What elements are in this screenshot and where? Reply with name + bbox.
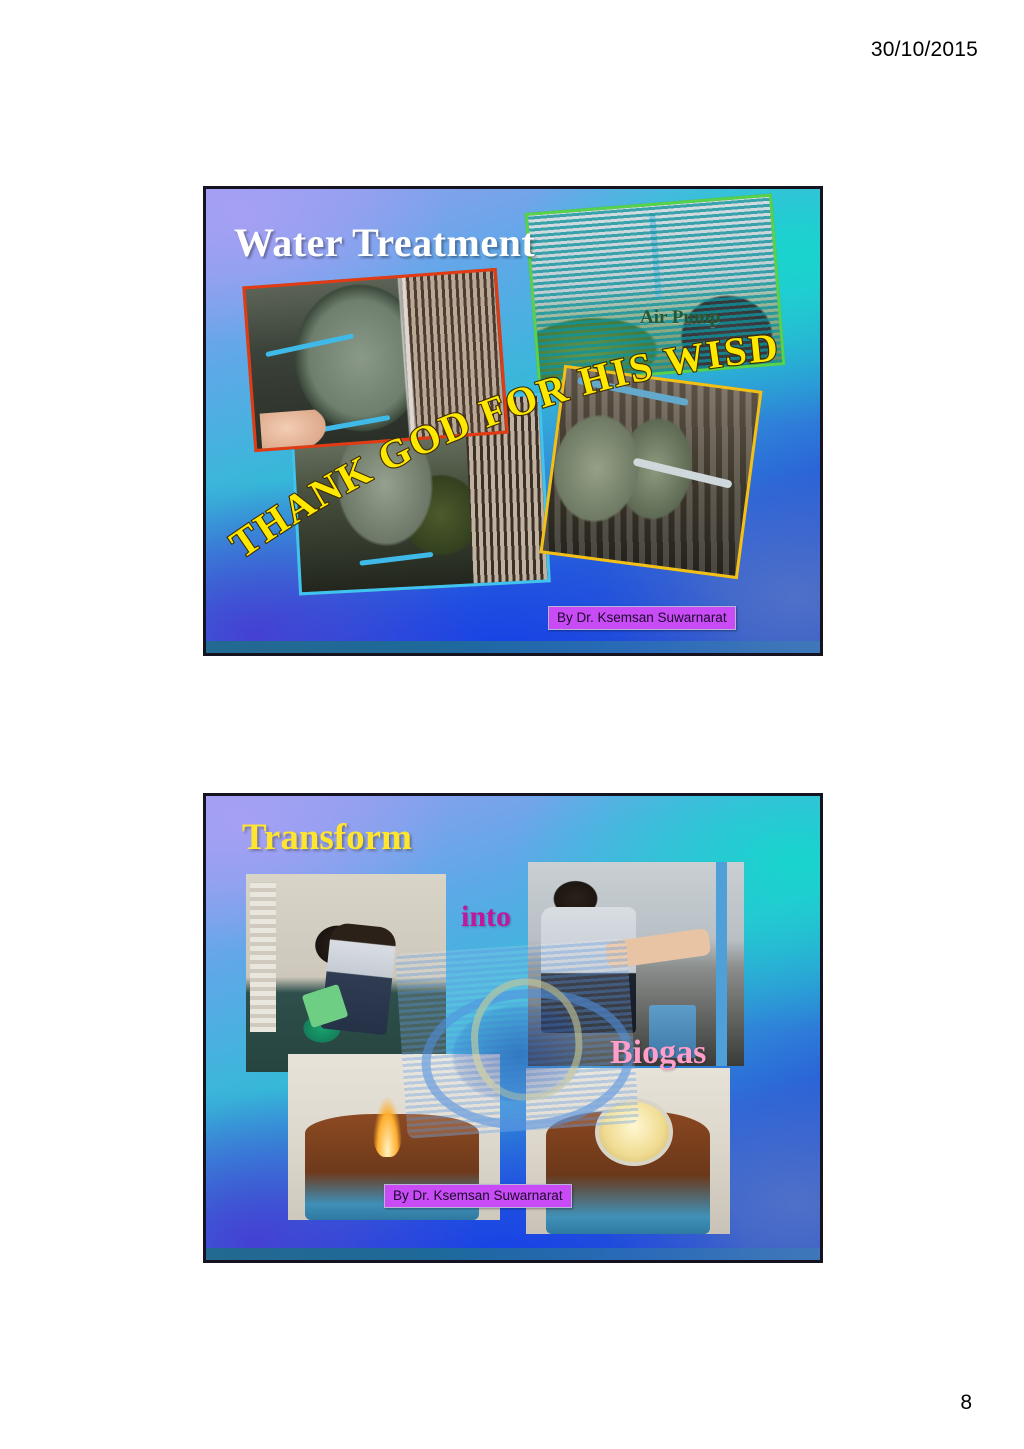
slide1-byline: By Dr. Ksemsan Suwarnarat <box>548 606 736 630</box>
slide-water-treatment[interactable]: Water Treatment Air Pump THANK GOD FOR H… <box>203 186 823 656</box>
hand-shape <box>260 409 328 452</box>
treatment-tanks-photo <box>539 365 762 579</box>
into-label: into <box>461 900 511 934</box>
slide-transform-into-biogas[interactable]: Transform into Biogas By Dr. Ksemsan Suw… <box>203 793 823 1263</box>
blue-pipe-shape <box>716 862 727 1066</box>
air-pump-photo <box>525 194 786 385</box>
air-pump-label: Air Pump <box>640 307 720 329</box>
page-number: 8 <box>960 1391 972 1415</box>
biogas-label: Biogas <box>610 1034 706 1072</box>
door-shape <box>250 882 276 1032</box>
slide1-title: Water Treatment <box>234 219 535 266</box>
pipe-shape <box>359 552 433 566</box>
tank-cover-photo <box>242 268 508 452</box>
pipe-shape <box>265 333 354 357</box>
pipe-shape-top <box>576 377 688 406</box>
slide2-byline: By Dr. Ksemsan Suwarnarat <box>384 1184 572 1208</box>
blinds-overlay <box>528 197 782 381</box>
page-date: 30/10/2015 <box>871 38 978 62</box>
pipe-shape <box>632 457 732 488</box>
blue-bowl-overlay <box>395 938 639 1139</box>
flame-shape <box>373 1097 403 1157</box>
slide2-title: Transform <box>242 816 412 859</box>
